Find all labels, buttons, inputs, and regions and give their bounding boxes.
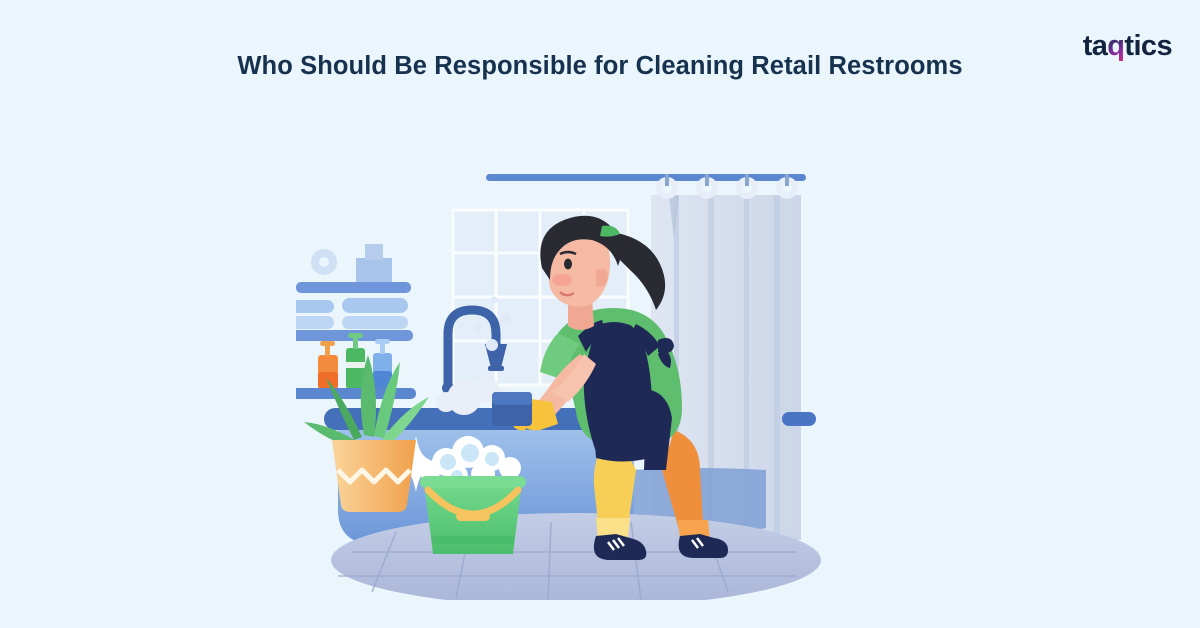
bucket-rim bbox=[420, 476, 526, 488]
curtain-rod bbox=[486, 174, 806, 181]
shelf-bottom bbox=[296, 388, 416, 399]
cheek bbox=[552, 274, 572, 286]
logo-text-before: ta bbox=[1083, 32, 1108, 61]
page-title: Who Should Be Responsible for Cleaning R… bbox=[0, 52, 1200, 81]
shelf-top bbox=[296, 282, 411, 293]
eye bbox=[564, 259, 572, 270]
logo-text-after: tics bbox=[1124, 32, 1172, 61]
taqtics-logo[interactable]: taqtics bbox=[1083, 32, 1172, 61]
towel-bar bbox=[782, 412, 816, 426]
illustration-woman-cleaning-bathtub bbox=[296, 140, 856, 600]
toilet-paper-roll bbox=[311, 249, 337, 275]
logo-accent-letter-q: q bbox=[1107, 32, 1124, 61]
bucket-handle-grip bbox=[456, 512, 490, 521]
banner-canvas: Who Should Be Responsible for Cleaning R… bbox=[0, 0, 1200, 628]
